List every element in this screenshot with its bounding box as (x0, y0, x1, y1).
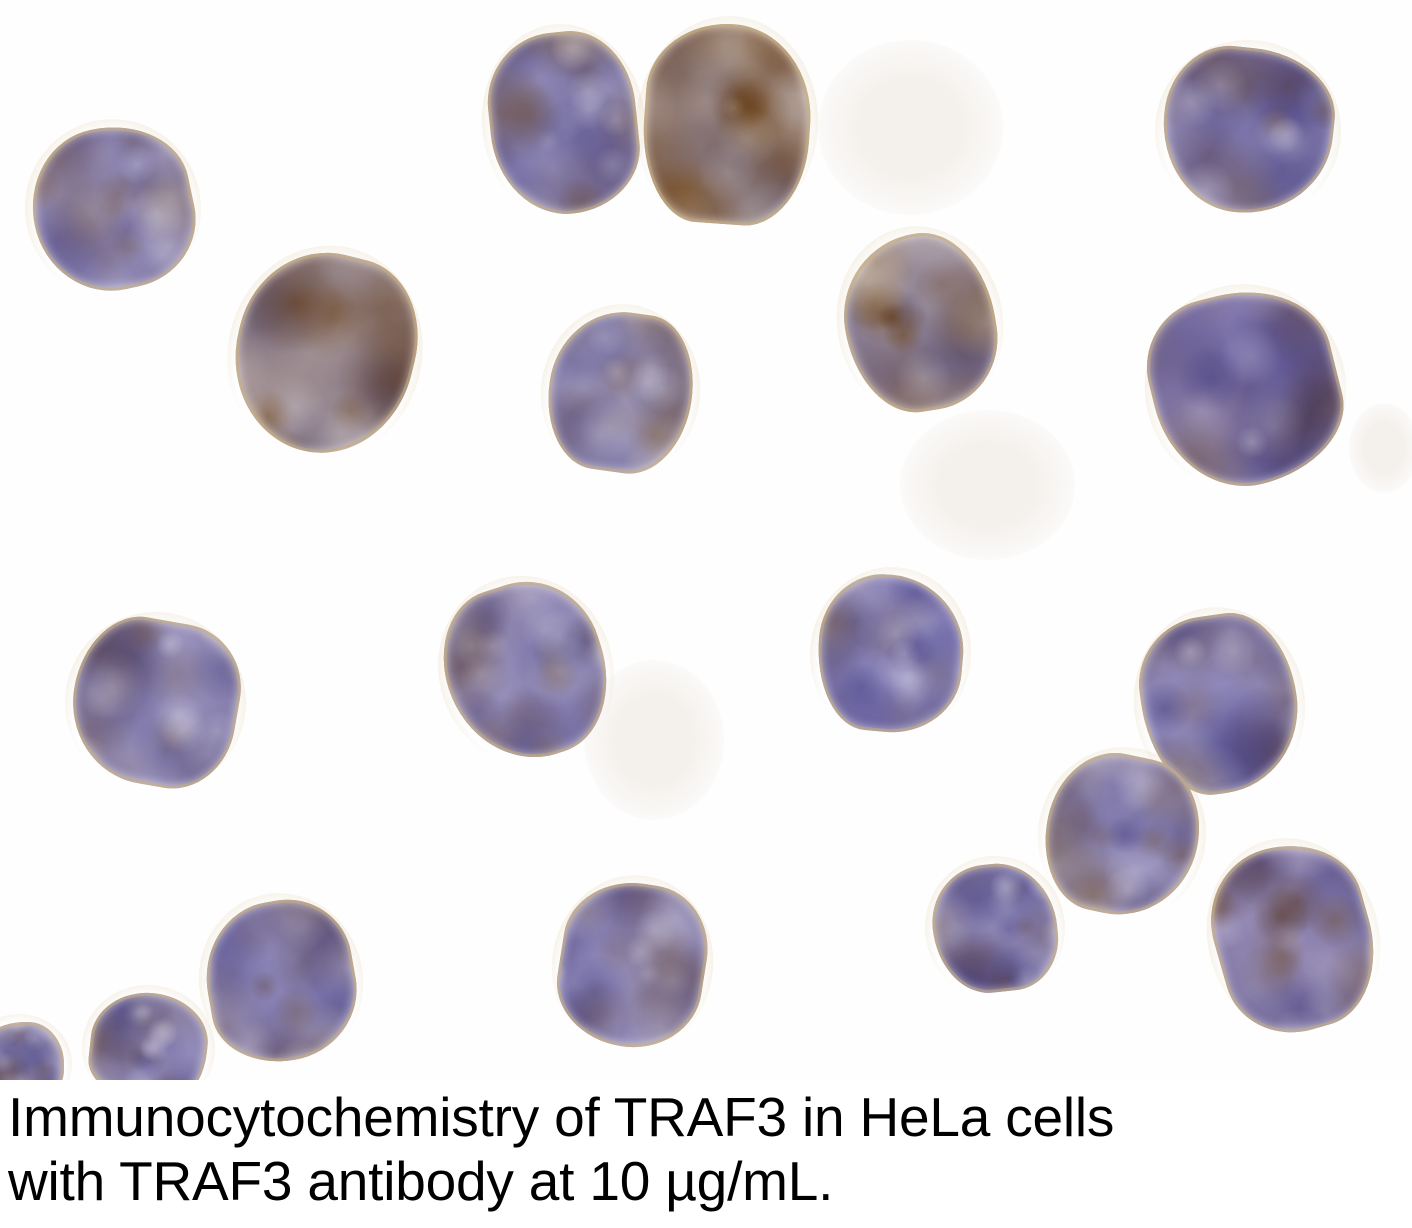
cell-membrane-halo (414, 553, 639, 789)
stained-cell (214, 234, 435, 471)
stained-cell (548, 873, 717, 1058)
stained-cell (637, 18, 817, 229)
cell-membrane-halo (51, 598, 261, 808)
cytoplasm-highlight-texture (85, 987, 213, 1080)
cell-membrane-rim (1132, 272, 1358, 504)
cell-membrane-halo (823, 214, 1017, 431)
hematoxylin-counterstain-texture (548, 873, 717, 1058)
cytoplasm-highlight-texture (1193, 827, 1393, 1049)
cytoplasm-highlight-texture (0, 1022, 64, 1080)
cytoplasm-highlight-texture (811, 569, 969, 738)
cell-membrane-rim (0, 1022, 64, 1080)
stained-cell (832, 223, 1008, 421)
hematoxylin-counterstain-texture (1155, 40, 1341, 222)
hematoxylin-counterstain-texture (481, 25, 646, 221)
cytoplasm-highlight-texture (927, 858, 1064, 998)
cell-membrane-rim (637, 18, 817, 229)
cell-membrane-rim (85, 987, 213, 1080)
hematoxylin-counterstain-texture (637, 18, 817, 229)
cell-membrane-rim (811, 569, 969, 738)
cell-membrane-rim (832, 223, 1008, 421)
ghost-cell (900, 410, 1075, 560)
cytoplasm-highlight-texture (548, 873, 717, 1058)
stained-cell (0, 1022, 64, 1080)
cytoplasm-highlight-texture (1155, 40, 1341, 222)
stained-cell (1193, 827, 1393, 1049)
hematoxylin-counterstain-texture (927, 858, 1064, 998)
cytoplasm-highlight-texture (1132, 272, 1358, 504)
stained-cell (85, 987, 213, 1080)
ghost-cell (1349, 403, 1412, 493)
cell-membrane-halo (76, 978, 221, 1080)
cytoplasm-highlight-texture (424, 563, 629, 779)
stained-cell (1155, 40, 1341, 222)
hematoxylin-counterstain-texture (194, 889, 368, 1072)
cell-membrane-rim (481, 25, 646, 221)
hematoxylin-counterstain-texture (811, 569, 969, 738)
hematoxylin-counterstain-texture (18, 112, 208, 305)
cell-membrane-halo (185, 880, 377, 1080)
cell-membrane-rim (194, 889, 368, 1072)
cell-membrane-rim (1155, 40, 1341, 222)
hematoxylin-counterstain-texture (1132, 272, 1358, 504)
cell-membrane-rim (539, 303, 703, 481)
hematoxylin-counterstain-texture (424, 563, 629, 779)
cytoplasm-highlight-texture (214, 234, 435, 471)
cytoplasm-highlight-texture (637, 18, 817, 229)
cell-membrane-halo (539, 864, 726, 1067)
hematoxylin-counterstain-texture (832, 223, 1008, 421)
figure-panel: Immunocytochemistry of TRAF3 in HeLa cel… (0, 0, 1412, 1228)
stained-cell (539, 303, 703, 481)
ghost-cell (818, 40, 1003, 215)
cell-membrane-halo (629, 10, 826, 238)
stained-cell (927, 858, 1064, 998)
cytoplasm-highlight-texture (60, 607, 251, 798)
cell-membrane-rim (548, 873, 717, 1058)
cell-membrane-rim (60, 607, 251, 798)
hematoxylin-counterstain-texture (85, 987, 213, 1080)
micrograph-image (0, 0, 1412, 1080)
stained-cell (18, 112, 208, 305)
cell-membrane-rim (18, 112, 208, 305)
stained-cell (811, 569, 969, 738)
cell-membrane-halo (1123, 263, 1369, 514)
stained-cell (194, 889, 368, 1072)
cell-membrane-rim (1193, 827, 1393, 1049)
figure-caption: Immunocytochemistry of TRAF3 in HeLa cel… (8, 1086, 1404, 1214)
cell-membrane-halo (1183, 817, 1403, 1058)
stained-cell (424, 563, 629, 779)
cytoplasm-highlight-texture (539, 303, 703, 481)
cell-membrane-halo (530, 294, 712, 490)
cell-membrane-halo (918, 849, 1072, 1007)
cytoplasm-highlight-texture (194, 889, 368, 1072)
cell-membrane-halo (8, 103, 217, 315)
stained-cell (481, 25, 646, 221)
cell-membrane-halo (1146, 31, 1350, 230)
hematoxylin-counterstain-texture (0, 1022, 64, 1080)
cytoplasm-highlight-texture (481, 25, 646, 221)
cell-membrane-halo (205, 225, 445, 482)
cell-membrane-halo (0, 1014, 72, 1080)
cell-membrane-halo (472, 16, 655, 230)
cell-membrane-halo (803, 560, 978, 746)
cytoplasm-highlight-texture (18, 112, 208, 305)
stained-cell (60, 607, 251, 798)
hematoxylin-counterstain-texture (214, 234, 435, 471)
cell-membrane-rim (214, 234, 435, 471)
cytoplasm-highlight-texture (832, 223, 1008, 421)
hematoxylin-counterstain-texture (60, 607, 251, 798)
cell-membrane-rim (424, 563, 629, 779)
stained-cell (1132, 272, 1358, 504)
cell-membrane-rim (927, 858, 1064, 998)
hematoxylin-counterstain-texture (1193, 827, 1393, 1049)
hematoxylin-counterstain-texture (539, 303, 703, 481)
